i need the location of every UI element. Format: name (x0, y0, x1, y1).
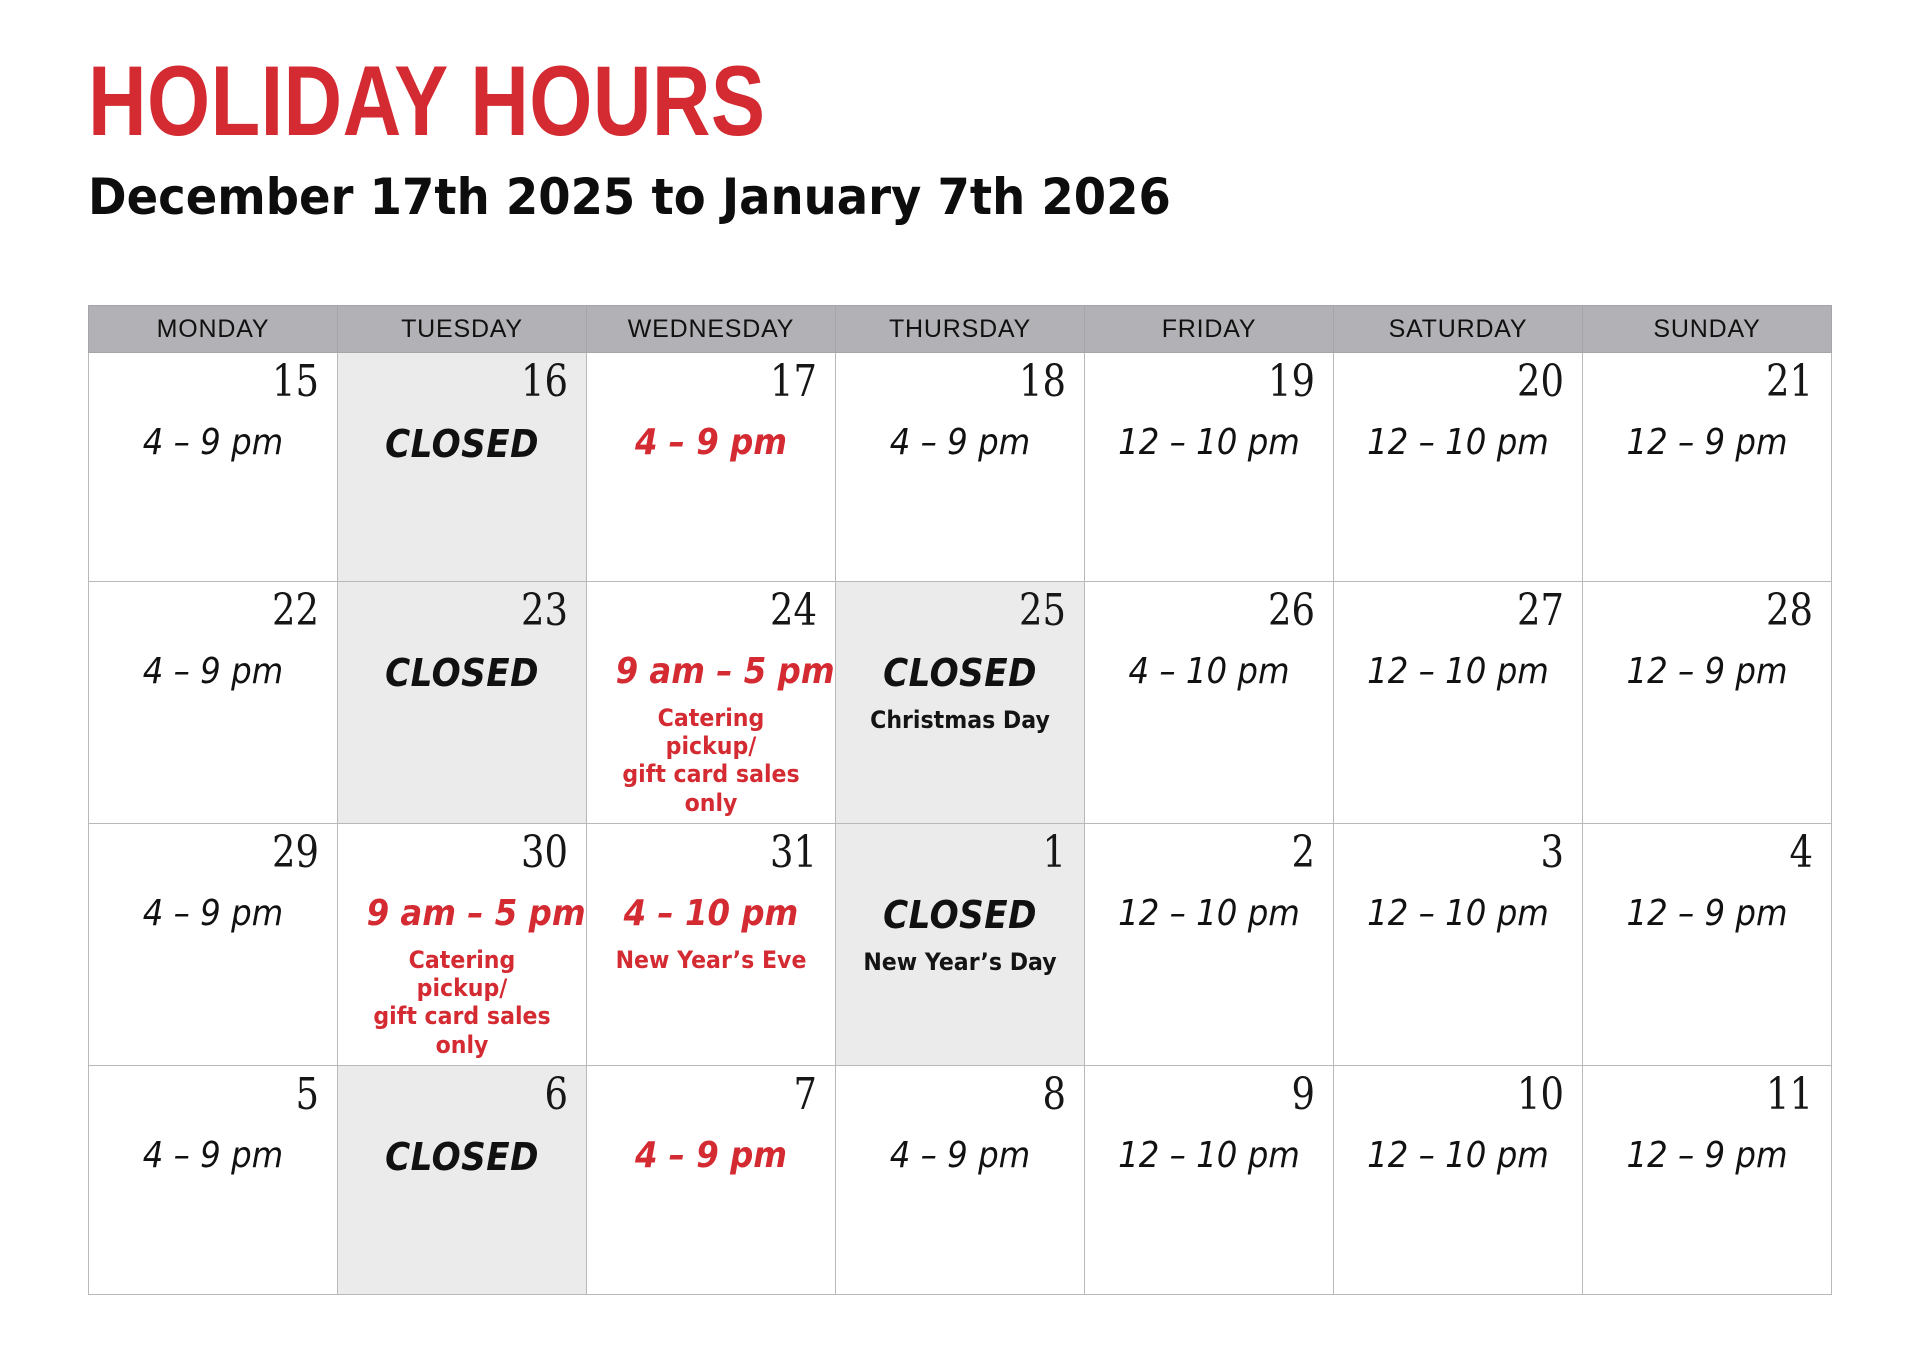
calendar-column-header-tuesday: TUESDAY (338, 306, 587, 353)
day-note: Catering pickup/gift card sales only (364, 946, 559, 1059)
calendar-day-cell: 309 am – 5 pmCatering pickup/gift card s… (338, 823, 587, 1065)
calendar-day-cell: 184 – 9 pm (836, 353, 1085, 582)
day-number: 2 (1137, 828, 1315, 877)
day-note: Catering pickup/gift card sales only (613, 704, 808, 817)
day-cell-content: 2112 – 9 pm (1583, 353, 1831, 581)
calendar-day-cell: 84 – 9 pm (836, 1065, 1085, 1294)
calendar-day-cell: 54 – 9 pm (89, 1065, 338, 1294)
calendar-day-cell: 23CLOSED (338, 582, 587, 824)
opening-hours: 12 – 9 pm (1612, 422, 1803, 464)
opening-hours: 4 – 9 pm (118, 893, 309, 935)
calendar-day-cell: 264 – 10 pm (1085, 582, 1334, 824)
calendar-day-cell: 2112 – 9 pm (1583, 353, 1832, 582)
calendar-day-cell: 249 am – 5 pmCatering pickup/gift card s… (587, 582, 836, 824)
day-number: 3 (1386, 828, 1564, 877)
day-cell-content: 2012 – 10 pm (1334, 353, 1582, 581)
day-number: 1 (888, 828, 1066, 877)
opening-hours: 9 am – 5 pm (616, 651, 807, 693)
day-cell-content: 74 – 9 pm (587, 1066, 835, 1294)
day-cell-content: 249 am – 5 pmCatering pickup/gift card s… (587, 582, 835, 823)
opening-hours: 12 – 9 pm (1612, 1135, 1803, 1177)
day-cell-content: 412 – 9 pm (1583, 824, 1831, 1065)
calendar-day-cell: 1112 – 9 pm (1583, 1065, 1832, 1294)
day-cell-content: 1012 – 10 pm (1334, 1066, 1582, 1294)
day-number: 26 (1137, 586, 1315, 635)
calendar-day-cell: 1CLOSEDNew Year’s Day (836, 823, 1085, 1065)
day-cell-content: 184 – 9 pm (836, 353, 1084, 581)
opening-hours: 4 – 9 pm (865, 1135, 1056, 1177)
date-range-subtitle: December 17th 2025 to January 7th 2026 (88, 149, 1725, 224)
calendar-header-row: MONDAYTUESDAYWEDNESDAYTHURSDAYFRIDAYSATU… (89, 306, 1832, 353)
day-number: 27 (1386, 586, 1564, 635)
calendar-day-cell: 25CLOSEDChristmas Day (836, 582, 1085, 824)
day-number: 31 (639, 828, 817, 877)
day-number: 30 (390, 828, 568, 877)
opening-hours: 12 – 10 pm (1363, 651, 1554, 693)
holiday-hours-poster: HOLIDAY HOURS December 17th 2025 to Janu… (0, 0, 1920, 1356)
day-number: 9 (1137, 1070, 1315, 1119)
day-number: 24 (639, 586, 817, 635)
opening-hours: 12 – 9 pm (1612, 651, 1803, 693)
day-cell-content: 224 – 9 pm (89, 582, 337, 823)
opening-hours: 12 – 10 pm (1363, 1135, 1554, 1177)
calendar-day-cell: 16CLOSED (338, 353, 587, 582)
day-cell-content: 912 – 10 pm (1085, 1066, 1333, 1294)
day-cell-content: 2812 – 9 pm (1583, 582, 1831, 823)
closed-label: CLOSED (367, 1135, 558, 1180)
calendar-column-header-thursday: THURSDAY (836, 306, 1085, 353)
closed-label: CLOSED (367, 651, 558, 696)
opening-hours: 12 – 9 pm (1612, 893, 1803, 935)
day-number: 29 (141, 828, 319, 877)
opening-hours: 4 – 9 pm (118, 1135, 309, 1177)
day-cell-content: 154 – 9 pm (89, 353, 337, 581)
opening-hours: 4 – 9 pm (616, 1135, 807, 1177)
calendar-column-header-saturday: SATURDAY (1334, 306, 1583, 353)
calendar-column-header-monday: MONDAY (89, 306, 338, 353)
opening-hours: 4 – 10 pm (616, 893, 807, 935)
calendar-day-cell: 224 – 9 pm (89, 582, 338, 824)
day-note: New Year’s Eve (613, 946, 808, 974)
day-cell-content: 212 – 10 pm (1085, 824, 1333, 1065)
day-number: 19 (1137, 357, 1315, 406)
calendar-column-header-friday: FRIDAY (1085, 306, 1334, 353)
calendar-day-cell: 1912 – 10 pm (1085, 353, 1334, 582)
day-number: 5 (141, 1070, 319, 1119)
day-number: 10 (1386, 1070, 1564, 1119)
opening-hours: 12 – 10 pm (1114, 1135, 1305, 1177)
day-cell-content: 1112 – 9 pm (1583, 1066, 1831, 1294)
poster-heading: HOLIDAY HOURS December 17th 2025 to Janu… (88, 52, 1848, 224)
calendar-day-cell: 314 – 10 pmNew Year’s Eve (587, 823, 836, 1065)
calendar-day-cell: 412 – 9 pm (1583, 823, 1832, 1065)
opening-hours: 12 – 10 pm (1114, 893, 1305, 935)
day-number: 25 (888, 586, 1066, 635)
opening-hours: 4 – 9 pm (616, 422, 807, 464)
day-number: 8 (888, 1070, 1066, 1119)
calendar-week-row: 294 – 9 pm309 am – 5 pmCatering pickup/g… (89, 823, 1832, 1065)
day-cell-content: 84 – 9 pm (836, 1066, 1084, 1294)
opening-hours: 12 – 10 pm (1363, 422, 1554, 464)
day-number: 6 (390, 1070, 568, 1119)
day-number: 22 (141, 586, 319, 635)
day-cell-content: 16CLOSED (338, 353, 586, 581)
day-cell-content: 25CLOSEDChristmas Day (836, 582, 1084, 823)
calendar-day-cell: 174 – 9 pm (587, 353, 836, 582)
day-number: 16 (390, 357, 568, 406)
day-number: 28 (1635, 586, 1813, 635)
calendar-day-cell: 312 – 10 pm (1334, 823, 1583, 1065)
day-cell-content: 294 – 9 pm (89, 824, 337, 1065)
day-number: 23 (390, 586, 568, 635)
calendar-body: 154 – 9 pm16CLOSED174 – 9 pm184 – 9 pm19… (89, 353, 1832, 1295)
page-title: HOLIDAY HOURS (88, 52, 1531, 149)
calendar-column-header-wednesday: WEDNESDAY (587, 306, 836, 353)
day-number: 11 (1635, 1070, 1813, 1119)
day-cell-content: 54 – 9 pm (89, 1066, 337, 1294)
calendar-day-cell: 154 – 9 pm (89, 353, 338, 582)
calendar-column-header-sunday: SUNDAY (1583, 306, 1832, 353)
day-number: 18 (888, 357, 1066, 406)
day-cell-content: 174 – 9 pm (587, 353, 835, 581)
calendar-day-cell: 74 – 9 pm (587, 1065, 836, 1294)
day-number: 17 (639, 357, 817, 406)
day-cell-content: 264 – 10 pm (1085, 582, 1333, 823)
day-note: New Year’s Day (862, 948, 1057, 976)
calendar-week-row: 54 – 9 pm6CLOSED74 – 9 pm84 – 9 pm912 – … (89, 1065, 1832, 1294)
day-cell-content: 6CLOSED (338, 1066, 586, 1294)
day-number: 4 (1635, 828, 1813, 877)
opening-hours: 12 – 10 pm (1114, 422, 1305, 464)
day-number: 21 (1635, 357, 1813, 406)
closed-label: CLOSED (865, 651, 1056, 696)
opening-hours: 4 – 9 pm (118, 422, 309, 464)
calendar-day-cell: 212 – 10 pm (1085, 823, 1334, 1065)
calendar-day-cell: 2012 – 10 pm (1334, 353, 1583, 582)
opening-hours: 4 – 9 pm (118, 651, 309, 693)
day-cell-content: 1CLOSEDNew Year’s Day (836, 824, 1084, 1065)
calendar-day-cell: 2712 – 10 pm (1334, 582, 1583, 824)
calendar-day-cell: 912 – 10 pm (1085, 1065, 1334, 1294)
closed-label: CLOSED (865, 893, 1056, 938)
calendar-day-cell: 1012 – 10 pm (1334, 1065, 1583, 1294)
opening-hours: 12 – 10 pm (1363, 893, 1554, 935)
calendar-week-row: 224 – 9 pm23CLOSED249 am – 5 pmCatering … (89, 582, 1832, 824)
calendar-day-cell: 6CLOSED (338, 1065, 587, 1294)
closed-label: CLOSED (367, 422, 558, 467)
opening-hours: 4 – 10 pm (1114, 651, 1305, 693)
day-cell-content: 309 am – 5 pmCatering pickup/gift card s… (338, 824, 586, 1065)
day-note: Christmas Day (862, 706, 1057, 734)
holiday-hours-calendar: MONDAYTUESDAYWEDNESDAYTHURSDAYFRIDAYSATU… (88, 305, 1832, 1295)
day-cell-content: 23CLOSED (338, 582, 586, 823)
opening-hours: 9 am – 5 pm (367, 893, 558, 935)
opening-hours: 4 – 9 pm (865, 422, 1056, 464)
day-number: 7 (639, 1070, 817, 1119)
calendar-day-cell: 294 – 9 pm (89, 823, 338, 1065)
day-cell-content: 2712 – 10 pm (1334, 582, 1582, 823)
day-cell-content: 312 – 10 pm (1334, 824, 1582, 1065)
day-cell-content: 1912 – 10 pm (1085, 353, 1333, 581)
day-cell-content: 314 – 10 pmNew Year’s Eve (587, 824, 835, 1065)
day-number: 15 (141, 357, 319, 406)
calendar-day-cell: 2812 – 9 pm (1583, 582, 1832, 824)
day-number: 20 (1386, 357, 1564, 406)
calendar-week-row: 154 – 9 pm16CLOSED174 – 9 pm184 – 9 pm19… (89, 353, 1832, 582)
